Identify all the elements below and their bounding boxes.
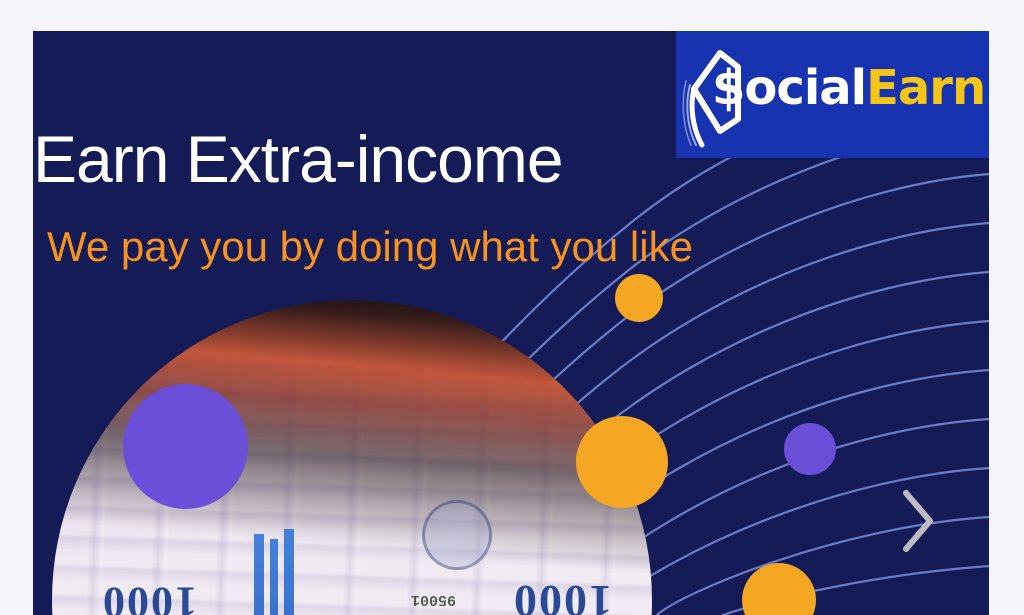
brand-word-second: Earning bbox=[866, 60, 989, 116]
hero-headline: Earn Extra-income bbox=[33, 126, 563, 192]
purple-blob-large bbox=[123, 384, 248, 509]
orange-blob-bottom bbox=[742, 563, 816, 615]
note-denomination-left: 1000 bbox=[512, 575, 612, 615]
note-security-bar-b bbox=[270, 539, 278, 615]
orange-blob-top bbox=[615, 274, 663, 322]
brand-wordmark: $ocialEarning bbox=[712, 60, 989, 116]
note-serial: 95001 bbox=[411, 591, 456, 608]
purple-blob-small bbox=[784, 423, 836, 475]
note-denomination-right: 1000 bbox=[101, 577, 197, 615]
note-security-bar-a bbox=[284, 529, 294, 615]
orange-blob-middle bbox=[576, 416, 668, 508]
carousel-next-button[interactable]: Next slide bbox=[888, 483, 948, 559]
brand-word-first: $ocial bbox=[712, 60, 866, 116]
hero-carousel-banner: THOUSAND NAIRA 1000 95001 1000 Earn Extr… bbox=[33, 31, 989, 615]
brand-logo[interactable]: $ocialEarning bbox=[676, 31, 989, 158]
note-seal bbox=[422, 500, 492, 570]
note-security-bar-c bbox=[254, 534, 264, 615]
hero-subheadline: We pay you by doing what you like bbox=[47, 226, 693, 268]
chevron-right-icon bbox=[906, 493, 930, 549]
